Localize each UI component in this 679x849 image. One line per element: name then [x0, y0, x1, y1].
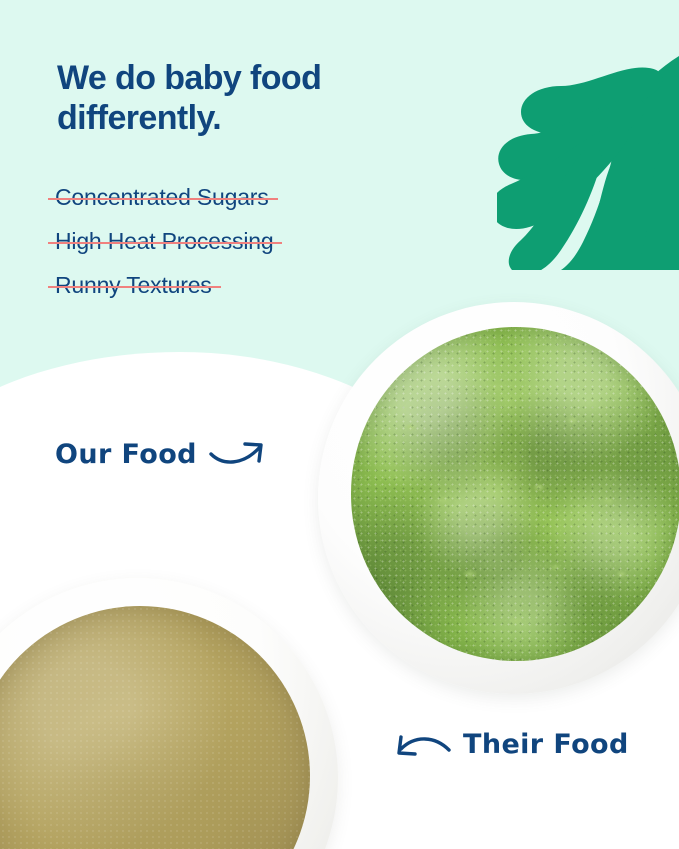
advertisement-canvas: We do baby food differently. Concentrate…: [0, 0, 679, 849]
strikethrough-line: [48, 242, 282, 244]
callout-our-food-label: Our Food: [55, 441, 197, 468]
tan-puree-sheen: [0, 606, 310, 849]
callout-their-food-label: Their Food: [463, 731, 629, 758]
avoid-list-item: Concentrated Sugars: [55, 186, 273, 230]
green-puree-grain: [351, 327, 679, 660]
strikethrough-line: [48, 286, 221, 288]
curved-arrow-right-icon: [209, 437, 267, 471]
curved-arrow-left-icon: [393, 727, 451, 761]
page-title: We do baby food differently.: [57, 58, 477, 138]
avoid-list: Concentrated Sugars High Heat Processing…: [55, 186, 273, 318]
headline-line-1: We do baby food: [57, 59, 321, 97]
callout-their-food: Their Food: [393, 727, 629, 761]
avoid-list-item: Runny Textures: [55, 274, 273, 318]
headline-line-2: differently.: [57, 99, 221, 137]
strikethrough-line: [48, 198, 278, 200]
callout-our-food: Our Food: [55, 437, 267, 471]
green-puree-surface: [351, 327, 679, 660]
avoid-list-item: High Heat Processing: [55, 230, 273, 274]
tan-puree-surface: [0, 606, 310, 849]
